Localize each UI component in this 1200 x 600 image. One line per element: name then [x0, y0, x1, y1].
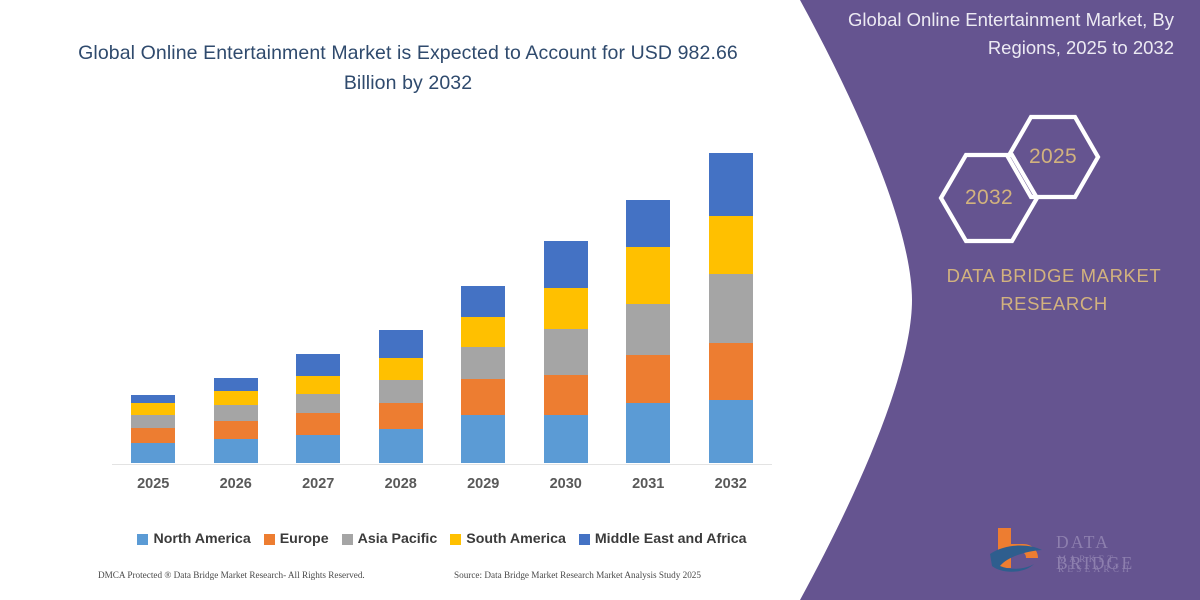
legend-swatch-icon: [342, 534, 353, 545]
bar-segment[interactable]: [544, 241, 588, 288]
bar-segment[interactable]: [379, 429, 423, 463]
bar-segment[interactable]: [544, 288, 588, 329]
bar-column[interactable]: [296, 354, 340, 463]
bar-segment[interactable]: [214, 391, 258, 405]
legend-label: Europe: [280, 531, 329, 547]
bar-segment[interactable]: [379, 330, 423, 358]
bar-segment[interactable]: [131, 403, 175, 415]
bar-segment[interactable]: [214, 405, 258, 421]
bar-segment[interactable]: [544, 415, 588, 463]
bar-segment[interactable]: [461, 286, 505, 317]
bar-segment[interactable]: [626, 403, 670, 463]
panel-heading: Global Online Entertainment Market, By R…: [814, 6, 1174, 62]
bar-segment[interactable]: [296, 435, 340, 463]
bar-column[interactable]: [131, 395, 175, 463]
legend-item[interactable]: Middle East and Africa: [579, 531, 747, 547]
bar-column[interactable]: [379, 330, 423, 463]
legend-item[interactable]: South America: [450, 531, 566, 547]
legend-swatch-icon: [450, 534, 461, 545]
data-bridge-logo-icon: [988, 524, 1052, 576]
bar-segment[interactable]: [544, 375, 588, 415]
bar-segment[interactable]: [296, 413, 340, 435]
bar-column[interactable]: [544, 241, 588, 463]
bar-segment[interactable]: [461, 317, 505, 347]
x-axis-tick-2025: 2025: [118, 476, 188, 492]
bar-segment[interactable]: [626, 355, 670, 403]
legend-item[interactable]: Asia Pacific: [342, 531, 438, 547]
legend-swatch-icon: [264, 534, 275, 545]
bar-segment[interactable]: [626, 200, 670, 247]
legend-item[interactable]: Europe: [264, 531, 329, 547]
x-axis-tick-2031: 2031: [613, 476, 683, 492]
legend-label: Asia Pacific: [358, 531, 438, 547]
bar-segment[interactable]: [709, 153, 753, 216]
legend-item[interactable]: North America: [137, 531, 250, 547]
bar-segment[interactable]: [214, 421, 258, 439]
bar-segment[interactable]: [709, 343, 753, 400]
brand-logo: DATA BRIDGE MARKET RESEARCH: [988, 522, 1188, 578]
brand-name: DATA BRIDGE MARKET RESEARCH: [908, 262, 1200, 318]
bar-column[interactable]: [461, 286, 505, 463]
bar-segment[interactable]: [461, 379, 505, 415]
x-axis-tick-2028: 2028: [366, 476, 436, 492]
x-axis-tick-2029: 2029: [448, 476, 518, 492]
bar-segment[interactable]: [709, 400, 753, 463]
x-axis-tick-2027: 2027: [283, 476, 353, 492]
bar-column[interactable]: [626, 200, 670, 463]
x-axis-tick-2026: 2026: [201, 476, 271, 492]
x-axis-tick-2030: 2030: [531, 476, 601, 492]
bar-segment[interactable]: [709, 274, 753, 343]
hex-badge-end-year: 2032: [938, 152, 1040, 244]
x-axis-tick-2032: 2032: [696, 476, 766, 492]
bar-segment[interactable]: [214, 378, 258, 391]
hex-badge-start-year-label: 2025: [1029, 145, 1077, 169]
bar-segment[interactable]: [626, 247, 670, 304]
legend-label: Middle East and Africa: [595, 531, 747, 547]
chart-legend: North AmericaEuropeAsia PacificSouth Ame…: [112, 531, 772, 547]
legend-label: South America: [466, 531, 566, 547]
bar-segment[interactable]: [544, 329, 588, 375]
footer-source: Source: Data Bridge Market Research Mark…: [454, 570, 701, 580]
bar-segment[interactable]: [131, 395, 175, 403]
stacked-bar-chart-plot: [112, 120, 772, 465]
bar-segment[interactable]: [379, 403, 423, 429]
bar-segment[interactable]: [296, 354, 340, 376]
bar-segment[interactable]: [626, 304, 670, 355]
bar-segment[interactable]: [461, 347, 505, 379]
bar-segment[interactable]: [379, 380, 423, 404]
footer-copyright: DMCA Protected ® Data Bridge Market Rese…: [98, 570, 365, 580]
infographic-canvas: Global Online Entertainment Market is Ex…: [0, 0, 1200, 600]
bar-segment[interactable]: [296, 376, 340, 394]
bar-column[interactable]: [214, 378, 258, 463]
bar-column[interactable]: [709, 153, 753, 463]
bar-segment[interactable]: [131, 443, 175, 463]
bar-segment[interactable]: [379, 358, 423, 380]
page-title: Global Online Entertainment Market is Ex…: [58, 38, 758, 98]
bar-segment[interactable]: [131, 428, 175, 443]
legend-swatch-icon: [137, 534, 148, 545]
legend-swatch-icon: [579, 534, 590, 545]
bar-segment[interactable]: [131, 415, 175, 428]
chart-baseline: [112, 464, 772, 465]
bar-segment[interactable]: [214, 439, 258, 463]
bar-segment[interactable]: [709, 216, 753, 274]
hex-badge-end-year-label: 2032: [965, 186, 1013, 210]
x-axis-labels: 20252026202720282029203020312032: [112, 476, 772, 498]
bar-segment[interactable]: [296, 394, 340, 414]
bar-segment[interactable]: [461, 415, 505, 463]
legend-label: North America: [153, 531, 250, 547]
logo-text-secondary: MARKET RESEARCH: [1058, 554, 1188, 574]
